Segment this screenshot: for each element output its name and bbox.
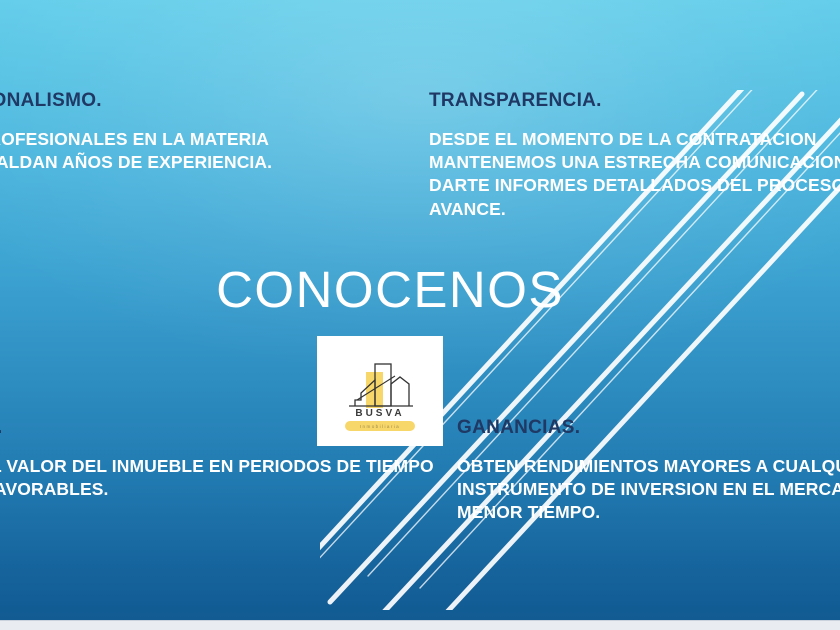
body-line: AUMENTA EL VALOR DEL INMUEBLE EN PERIODO… [0,455,434,478]
body-line: SOMOS PROFESIONALES EN LA MATERIA [0,128,272,151]
body-line: INSTRUMENTO DE INVERSION EN EL MERCADO E… [457,478,840,501]
body-line: DARTE INFORMES DETALLADOS DEL PROCESO Y … [429,174,840,197]
feature-block-ganancias: GANANCIAS. OBTEN RENDIMIENTOS MAYORES A … [457,417,840,525]
body-profesionalismo: SOMOS PROFESIONALES EN LA MATERIA QUE RE… [0,128,272,175]
feature-block-profesionalismo: PROFESIONALISMO. SOMOS PROFESIONALES EN … [0,90,272,174]
heading-transparencia: TRANSPARENCIA. [429,90,840,112]
slide-canvas: PROFESIONALISMO. SOMOS PROFESIONALES EN … [0,0,840,620]
slide-title: CONOCENOS [0,264,780,315]
heading-ganancias: GANANCIAS. [457,417,840,439]
body-line: MANTENEMOS UNA ESTRECHA COMUNICACION PAR… [429,151,840,174]
body-transparencia: DESDE EL MOMENTO DE LA CONTRATACION MANT… [429,128,840,221]
body-ganancias: OBTEN RENDIMIENTOS MAYORES A CUALQUIER O… [457,455,840,525]
body-line: OBTEN RENDIMIENTOS MAYORES A CUALQUIER O… [457,455,840,478]
feature-block-transparencia: TRANSPARENCIA. DESDE EL MOMENTO DE LA CO… [429,90,840,221]
body-line: MENOR TIEMPO. [457,501,840,524]
slide-frame: PROFESIONALISMO. SOMOS PROFESIONALES EN … [0,0,840,630]
body-line: CORTOS Y FAVORABLES. [0,478,434,501]
page-background-strip [0,620,840,630]
body-line: DESDE EL MOMENTO DE LA CONTRATACION [429,128,840,151]
body-plusvalia: AUMENTA EL VALOR DEL INMUEBLE EN PERIODO… [0,455,434,502]
heading-profesionalismo: PROFESIONALISMO. [0,90,272,112]
body-line: AVANCE. [429,198,840,221]
heading-plusvalia: PLUSVALIA. [0,417,434,439]
feature-block-plusvalia: PLUSVALIA. AUMENTA EL VALOR DEL INMUEBLE… [0,417,434,501]
body-line: QUE RESPALDAN AÑOS DE EXPERIENCIA. [0,151,272,174]
